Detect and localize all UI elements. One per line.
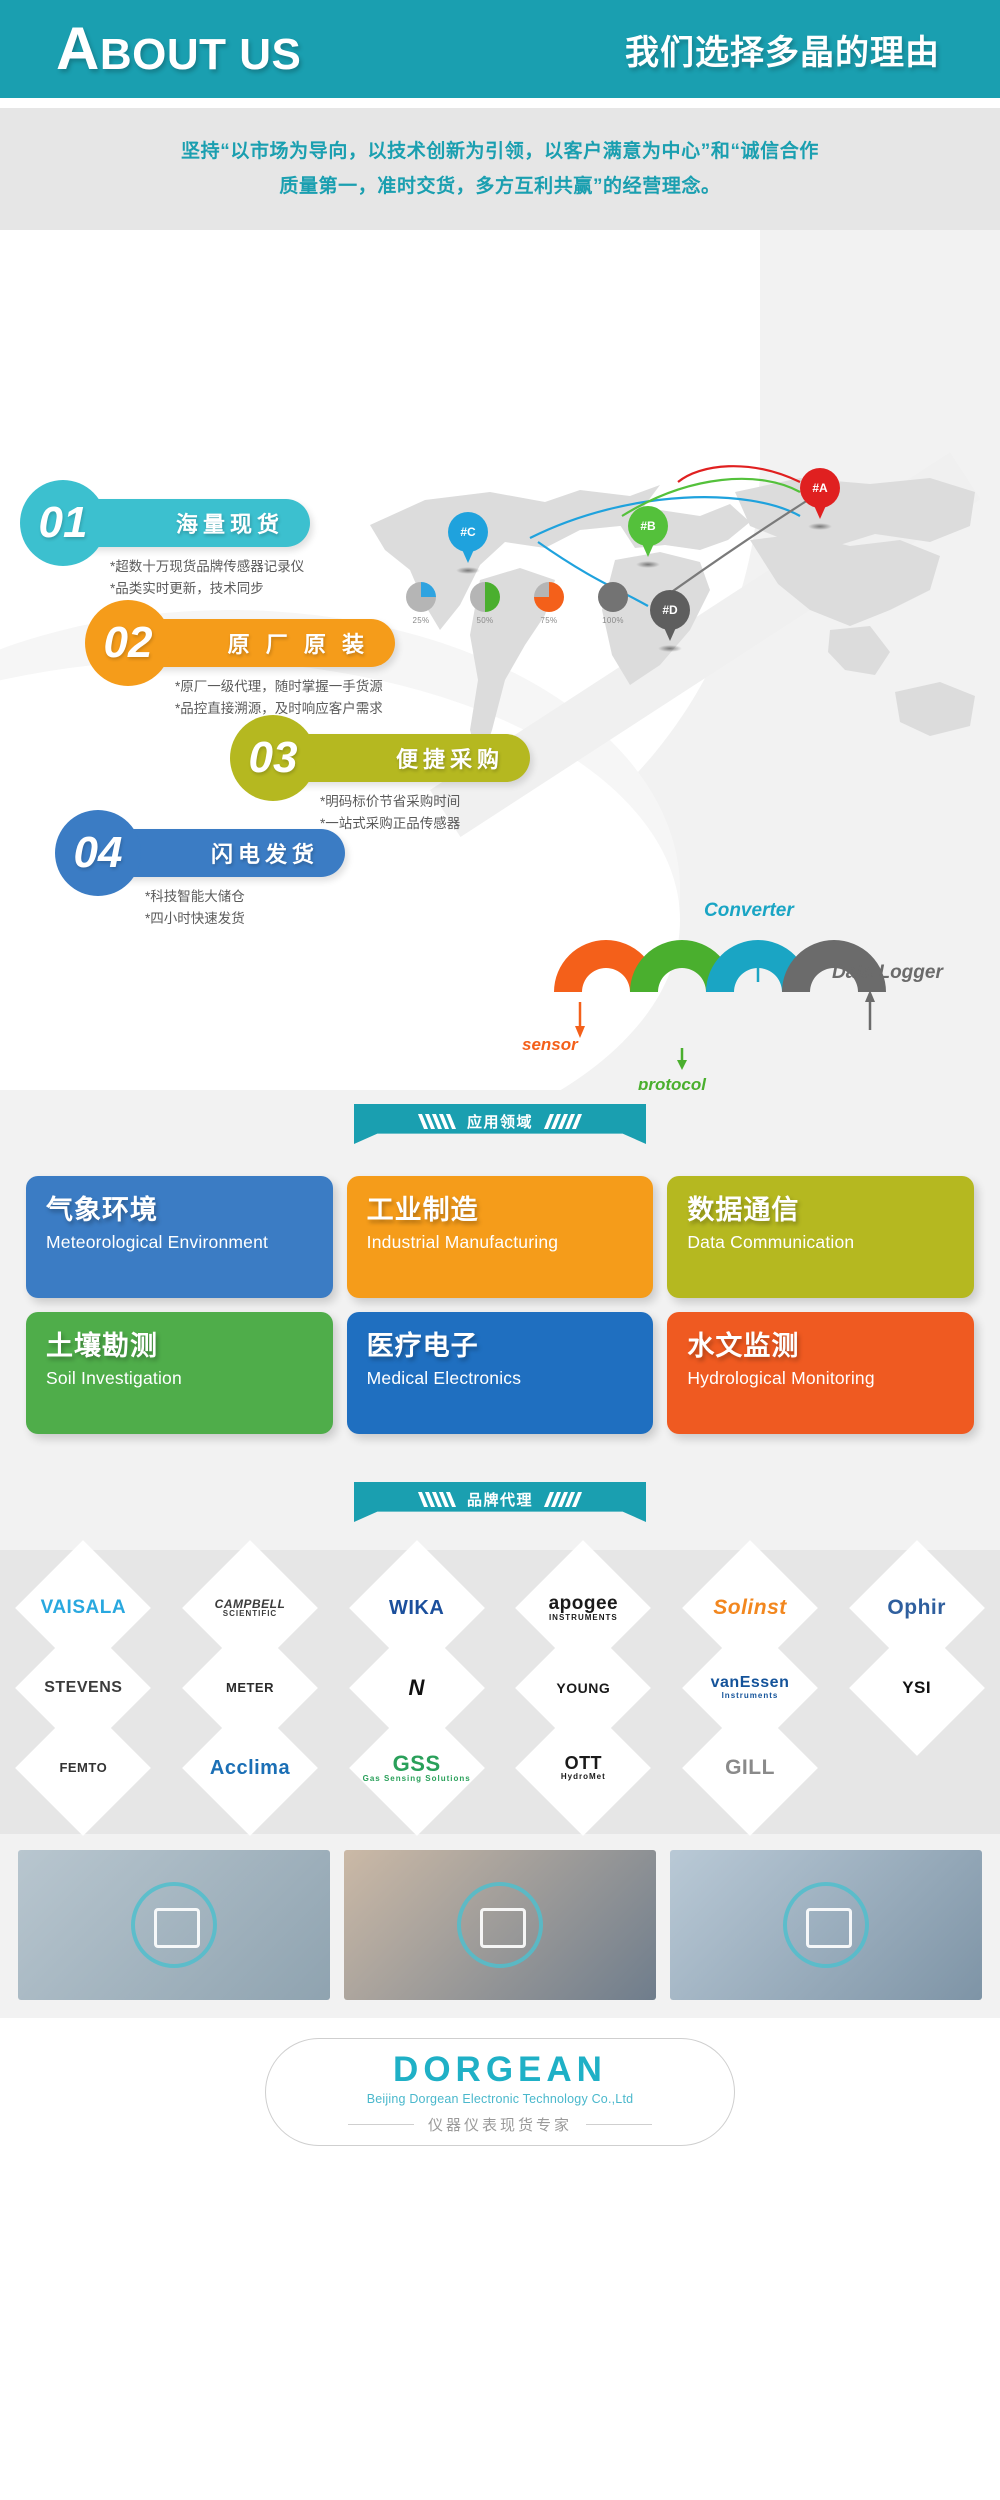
brand-logo: CAMPBELLSCIENTIFIC — [215, 1598, 286, 1619]
reason-notes: *明码标价节省采购时间 *一站式采购正品传感器 — [320, 791, 460, 834]
wave-label-converter: Converter — [704, 900, 794, 922]
ribbon-application: 应用领域 — [354, 1104, 646, 1144]
reason-number-badge: 04 — [55, 810, 141, 896]
application-card[interactable]: 水文监测Hydrological Monitoring — [667, 1312, 974, 1434]
brand-logo-cell[interactable]: Solinst — [667, 1568, 834, 1648]
brand-logo-cell[interactable]: vanEssenInstruments — [667, 1648, 834, 1728]
footer-company-name: Beijing Dorgean Electronic Technology Co… — [367, 2092, 634, 2106]
card-title-english: Soil Investigation — [46, 1368, 313, 1390]
card-title-english: Industrial Manufacturing — [367, 1232, 634, 1254]
reason-bar: 便捷采购 — [280, 734, 530, 782]
brand-name: Ophir — [887, 1597, 946, 1619]
brand-logo: Solinst — [713, 1597, 787, 1619]
reason-bar: 原 厂 原 装 — [135, 619, 395, 667]
ribbon-stripes-right-icon — [547, 1492, 579, 1507]
application-card[interactable]: 医疗电子Medical Electronics — [347, 1312, 654, 1434]
reason-title: 原 厂 原 装 — [228, 627, 369, 659]
reason-title: 海量现货 — [176, 507, 284, 539]
pie-label: 100% — [592, 616, 634, 625]
pie-item: 25% — [400, 582, 442, 625]
reason-notes: *原厂一级代理，随时掌握一手货源 *品控直接溯源，及时响应客户需求 — [175, 676, 383, 719]
brand-logo: FEMTO — [59, 1761, 107, 1775]
pin-shadow — [658, 645, 682, 652]
brand-logo: STEVENS — [44, 1680, 122, 1697]
application-card[interactable]: 数据通信Data Communication — [667, 1176, 974, 1298]
map-pin-a[interactable]: #A — [800, 468, 844, 524]
card-title-english: Data Communication — [687, 1232, 954, 1254]
pin-body: #D — [650, 590, 690, 630]
pie-item: 75% — [528, 582, 570, 625]
reason-bar: 海量现货 — [70, 499, 310, 547]
signal-chain-diagram: sensor protocol Converter Data Logger — [540, 870, 980, 1070]
brand-logo: N — [408, 1676, 424, 1699]
footer-logo-badge: DORGEAN Beijing Dorgean Electronic Techn… — [265, 2038, 735, 2146]
brand-logo-cell[interactable]: FEMTO — [0, 1728, 167, 1808]
brand-name: GSS — [363, 1752, 471, 1775]
aircraft-photo — [670, 1850, 982, 2000]
pin-body: #C — [448, 512, 488, 552]
reason-notes: *超数十万现货品牌传感器记录仪 *品类实时更新，技术同步 — [110, 556, 304, 599]
brand-logo: Ophir — [887, 1597, 946, 1619]
brand-logo-cell[interactable]: apogeeINSTRUMENTS — [500, 1568, 667, 1648]
brand-logo-cell[interactable]: GSSGas Sensing Solutions — [333, 1728, 500, 1808]
brand-logo: apogeeINSTRUMENTS — [549, 1594, 619, 1622]
overlay-ring-icon — [783, 1882, 869, 1968]
brand-name: YOUNG — [556, 1681, 610, 1696]
reason-number: 02 — [104, 618, 153, 668]
reason-number-badge: 02 — [85, 600, 171, 686]
brand-name: WIKA — [389, 1598, 444, 1619]
pin-shadow — [808, 523, 832, 530]
reason-number-badge: 03 — [230, 715, 316, 801]
map-pin-b[interactable]: #B — [628, 506, 672, 562]
pin-shadow — [456, 567, 480, 574]
brands-ribbon-zone: 品牌代理 — [0, 1468, 1000, 1550]
header-title-english: ABOUT US — [56, 19, 301, 79]
brand-logo: VAISALA — [41, 1598, 126, 1618]
footer-tagline: 仪器仪表现货专家 — [428, 2114, 572, 2135]
application-cards-grid: 气象环境Meteorological Environment工业制造Indust… — [26, 1176, 974, 1434]
brand-logo: GSSGas Sensing Solutions — [363, 1752, 471, 1783]
header-subtitle-chinese: 我们选择多晶的理由 — [625, 25, 940, 74]
brand-logo-cell[interactable]: YOUNG — [500, 1648, 667, 1728]
ribbon-stripes-left-icon — [421, 1114, 453, 1129]
reason-title: 闪电发货 — [211, 837, 319, 869]
brand-logo: WIKA — [389, 1598, 444, 1619]
brand-logo-cell[interactable]: CAMPBELLSCIENTIFIC — [167, 1568, 334, 1648]
application-card[interactable]: 气象环境Meteorological Environment — [26, 1176, 333, 1298]
pin-label: #B — [640, 519, 655, 533]
pie-chart-icon — [406, 582, 436, 612]
brand-logos-grid: VAISALACAMPBELLSCIENTIFICWIKAapogeeINSTR… — [0, 1568, 1000, 1808]
brand-subtitle: SCIENTIFIC — [215, 1610, 286, 1618]
brand-logo-cell[interactable]: WIKA — [333, 1568, 500, 1648]
brand-logo-cell[interactable]: Ophir — [833, 1568, 1000, 1648]
brand-subtitle: Instruments — [711, 1692, 790, 1700]
card-title-chinese: 数据通信 — [687, 1194, 954, 1226]
brand-logo: METER — [226, 1681, 274, 1695]
pie-label: 25% — [400, 616, 442, 625]
card-title-chinese: 工业制造 — [367, 1194, 634, 1226]
card-title-chinese: 土壤勘测 — [46, 1330, 313, 1362]
blueprint-photo — [18, 1850, 330, 2000]
pie-item: 50% — [464, 582, 506, 625]
brand-name: N — [408, 1676, 424, 1699]
application-card[interactable]: 工业制造Industrial Manufacturing — [347, 1176, 654, 1298]
footer-rule-left-icon — [348, 2124, 414, 2125]
application-ribbon-zone: 应用领域 — [0, 1090, 1000, 1172]
brand-logo-cell[interactable]: N — [333, 1648, 500, 1728]
ribbon-stripes-right-icon — [547, 1114, 579, 1129]
pin-body: #A — [800, 468, 840, 508]
handshake-photo — [344, 1850, 656, 2000]
application-cards-section: 气象环境Meteorological Environment工业制造Indust… — [0, 1172, 1000, 1468]
brand-logo: OTTHydroMet — [561, 1754, 606, 1781]
map-pin-c[interactable]: #C — [448, 512, 492, 568]
pin-label: #A — [812, 481, 827, 495]
brand-logo-cell[interactable]: Acclima — [167, 1728, 334, 1808]
footer-rule-right-icon — [586, 2124, 652, 2125]
pie-item: 100% — [592, 582, 634, 625]
brand-name: VAISALA — [41, 1598, 126, 1618]
footer-tagline-row: 仪器仪表现货专家 — [348, 2114, 652, 2135]
wave-label-protocol: protocol — [638, 1075, 706, 1090]
page-header: ABOUT US 我们选择多晶的理由 — [0, 0, 1000, 98]
brand-logo: GILL — [725, 1757, 775, 1779]
brand-name: Acclima — [210, 1758, 290, 1779]
card-title-chinese: 气象环境 — [46, 1194, 313, 1226]
brand-logos-section: VAISALACAMPBELLSCIENTIFICWIKAapogeeINSTR… — [0, 1550, 1000, 1834]
pin-body: #B — [628, 506, 668, 546]
ribbon-stripes-left-icon — [421, 1492, 453, 1507]
application-card[interactable]: 土壤勘测Soil Investigation — [26, 1312, 333, 1434]
brand-name: FEMTO — [59, 1761, 107, 1775]
reason-bar: 闪电发货 — [105, 829, 345, 877]
card-title-chinese: 水文监测 — [687, 1330, 954, 1362]
brand-name: OTT — [561, 1754, 606, 1773]
pin-label: #D — [662, 603, 677, 617]
brand-name: YSI — [902, 1679, 931, 1697]
ribbon-brands: 品牌代理 — [354, 1482, 646, 1522]
pin-shadow — [636, 561, 660, 568]
brand-logo-cell[interactable]: OTTHydroMet — [500, 1728, 667, 1808]
ribbon-application-label: 应用领域 — [467, 1111, 533, 1132]
brand-name: vanEssen — [711, 1675, 790, 1692]
ribbon-brands-label: 品牌代理 — [467, 1489, 533, 1510]
card-title-english: Meteorological Environment — [46, 1232, 313, 1254]
pie-chart-icon — [470, 582, 500, 612]
header-title-rest: BOUT US — [100, 30, 302, 79]
slogan-line-2: 质量第一，准时交货，多方互利共赢”的经营理念。 — [279, 169, 720, 204]
brand-logo: Acclima — [210, 1758, 290, 1779]
footer-brand-logo: DORGEAN — [393, 2050, 607, 2090]
brand-name: GILL — [725, 1757, 775, 1779]
brand-logo: YSI — [902, 1679, 931, 1697]
reason-title: 便捷采购 — [396, 742, 504, 774]
reason-number-badge: 01 — [20, 480, 106, 566]
brand-name: apogee — [549, 1594, 619, 1614]
pie-chart-icon — [534, 582, 564, 612]
footer-section: DORGEAN Beijing Dorgean Electronic Techn… — [0, 2018, 1000, 2172]
brand-name: STEVENS — [44, 1680, 122, 1697]
reason-number: 01 — [39, 498, 88, 548]
wave-label-data-logger: Data Logger — [832, 962, 943, 984]
brand-logo: vanEssenInstruments — [711, 1675, 790, 1700]
pie-chart-icon — [598, 582, 628, 612]
overlay-ring-icon — [131, 1882, 217, 1968]
reason-number: 03 — [249, 733, 298, 783]
overlay-ring-icon — [457, 1882, 543, 1968]
brand-logo: YOUNG — [556, 1681, 610, 1696]
brand-subtitle: HydroMet — [561, 1773, 606, 1781]
wave-label-sensor: sensor — [522, 1035, 578, 1055]
card-title-chinese: 医疗电子 — [367, 1330, 634, 1362]
pie-label: 50% — [464, 616, 506, 625]
brand-name: METER — [226, 1681, 274, 1695]
photo-strip — [0, 1834, 1000, 2018]
header-title-cap: A — [56, 15, 100, 82]
reason-number: 04 — [74, 828, 123, 878]
map-pin-d[interactable]: #D — [650, 590, 694, 646]
brand-name: Solinst — [713, 1597, 787, 1619]
card-title-english: Medical Electronics — [367, 1368, 634, 1390]
brand-subtitle: Gas Sensing Solutions — [363, 1775, 471, 1783]
brand-logo-cell[interactable]: YSI — [833, 1648, 1000, 1728]
pie-legend: 25%50%75%100% — [400, 582, 634, 625]
brand-logo-cell[interactable]: METER — [167, 1648, 334, 1728]
brand-logo-cell[interactable]: STEVENS — [0, 1648, 167, 1728]
slogan-section: 坚持“以市场为导向，以技术创新为引领，以客户满意为中心”和“诚信合作 质量第一，… — [0, 108, 1000, 230]
pin-label: #C — [460, 525, 475, 539]
card-title-english: Hydrological Monitoring — [687, 1368, 954, 1390]
brand-subtitle: INSTRUMENTS — [549, 1614, 619, 1622]
brand-logo-cell[interactable]: GILL — [667, 1728, 834, 1808]
reason-notes: *科技智能大储仓 *四小时快速发货 — [145, 886, 245, 929]
brand-logo-cell[interactable]: VAISALA — [0, 1568, 167, 1648]
pie-label: 75% — [528, 616, 570, 625]
slogan-line-1: 坚持“以市场为导向，以技术创新为引领，以客户满意为中心”和“诚信合作 — [181, 134, 819, 169]
reasons-map-panel: 25%50%75%100% #A#B#C#D 海量现货01*超数十万现货品牌传感… — [0, 230, 1000, 1090]
